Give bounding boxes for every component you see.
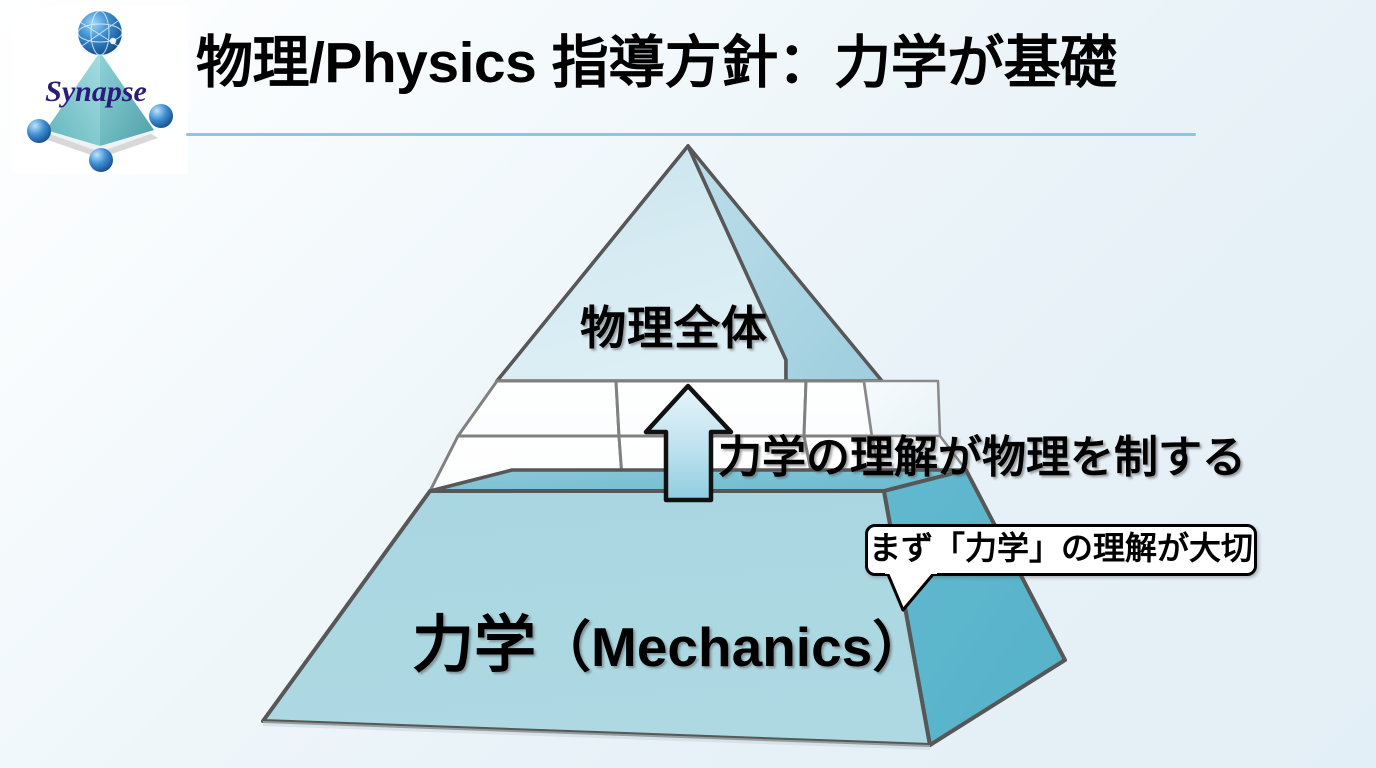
tier-label-mechanics-jp: 力学 [412, 611, 536, 680]
arrow-annotation-text: 力学の理解が物理を制する [718, 421, 1246, 485]
tier-label-physics-overall: 物理全体 [580, 292, 768, 358]
callout-bubble: まず「力学」の理解が大切 [865, 524, 1257, 576]
callout-tail-icon [883, 572, 947, 612]
tier-label-mechanics: 力学（Mechanics） [412, 594, 927, 684]
callout-text: まず「力学」の理解が大切 [865, 524, 1257, 576]
tier-label-mechanics-en: （Mechanics） [536, 616, 927, 678]
slide-canvas: Synapse 物理/Physics 指導方針：力学が基礎 [0, 0, 1376, 768]
